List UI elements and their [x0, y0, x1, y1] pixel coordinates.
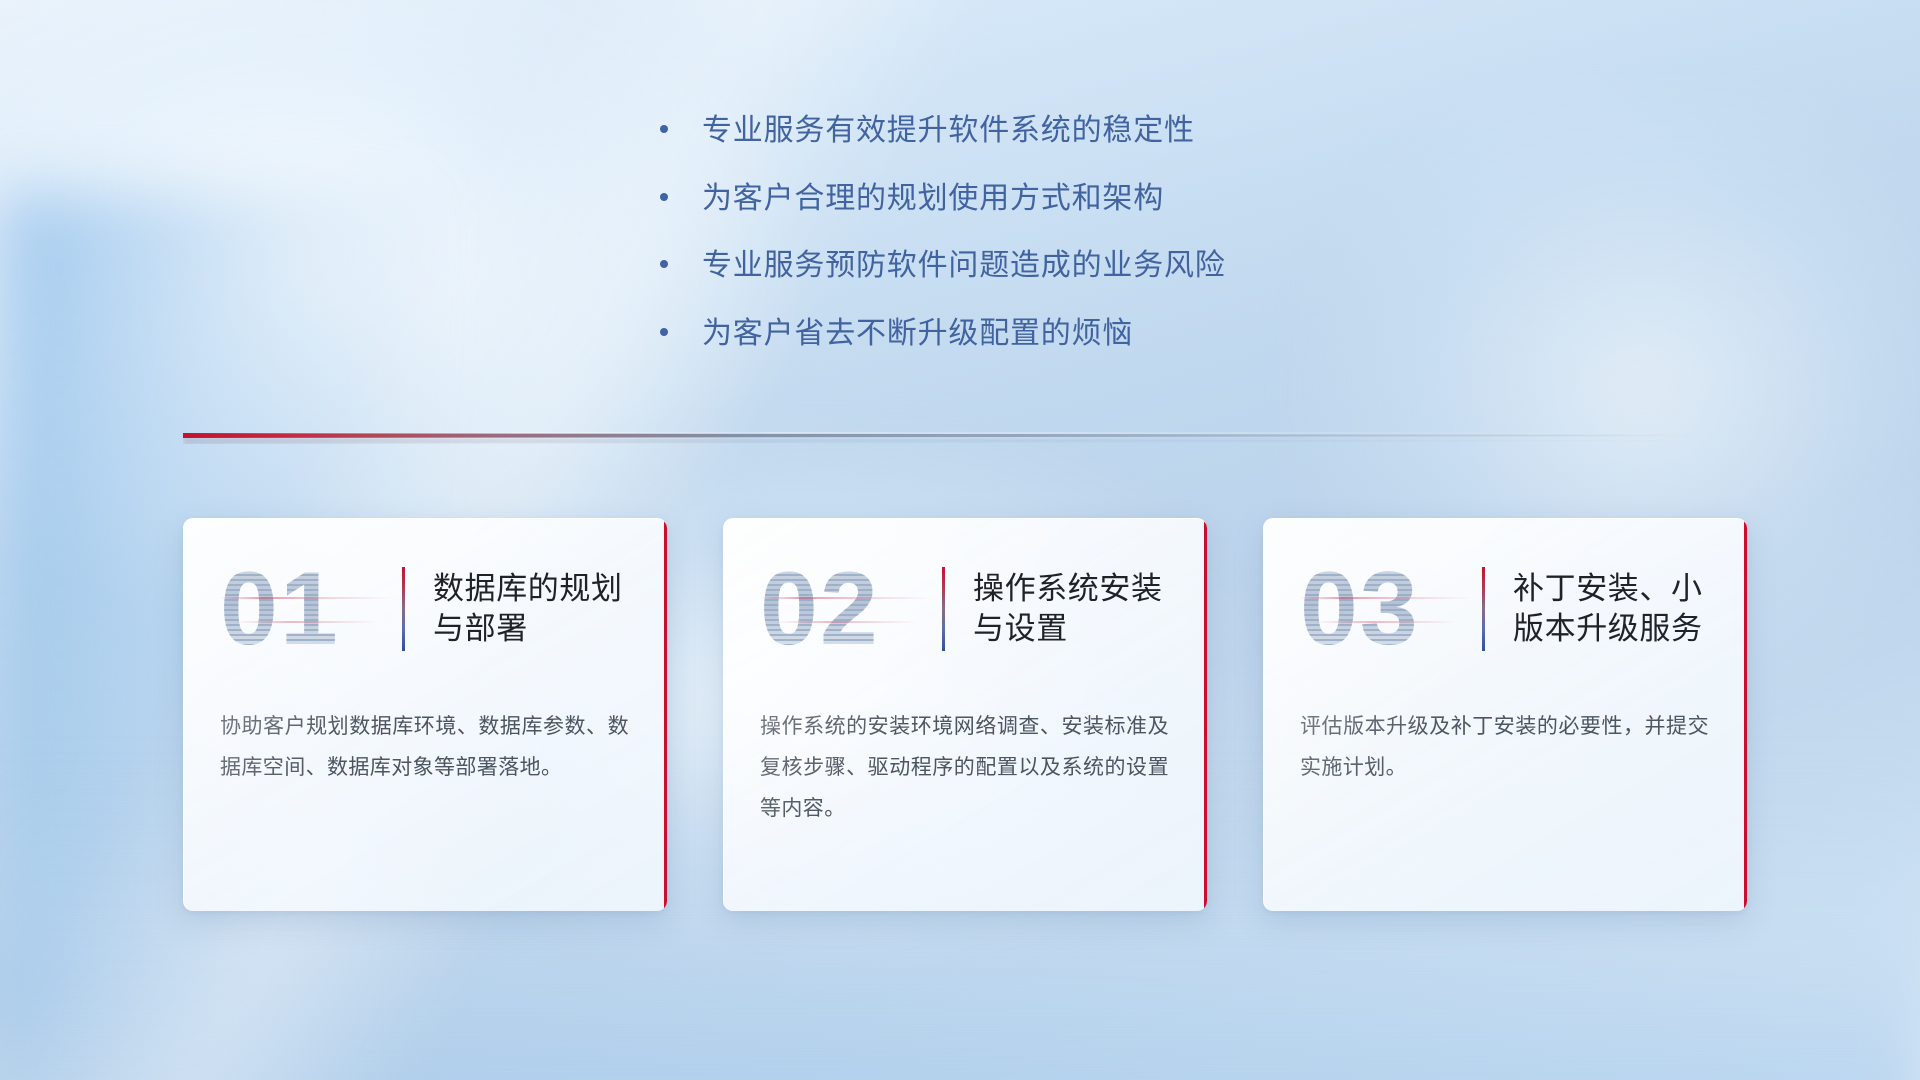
bullet-item: 为客户省去不断升级配置的烦恼 [660, 315, 1420, 353]
bullet-item: 为客户合理的规划使用方式和架构 [660, 180, 1420, 218]
card-divider-rule [402, 567, 405, 651]
bullet-item-label: 专业服务预防软件问题造成的业务风险 [702, 247, 1226, 285]
bullet-dot-icon [660, 125, 668, 133]
card-number: 02 [760, 557, 938, 661]
section-divider [183, 428, 1743, 444]
service-card[interactable]: 03 补丁安装、小 版本升级服务 评估版本升级及补丁安装的必要性，并提交实施计划… [1263, 518, 1747, 911]
service-card[interactable]: 01 数据库的规划 与部署 协助客户规划数据库环境、数据库参数、数据库空间、数据… [183, 518, 667, 911]
benefits-bullet-list: 专业服务有效提升软件系统的稳定性 为客户合理的规划使用方式和架构 专业服务预防软… [660, 112, 1420, 382]
bullet-item-label: 为客户合理的规划使用方式和架构 [702, 180, 1164, 218]
card-number-graphic: 01 [220, 557, 398, 661]
bullet-item: 专业服务有效提升软件系统的稳定性 [660, 112, 1420, 150]
card-title: 数据库的规划 与部署 [433, 569, 623, 650]
section-divider-highlight [183, 432, 1743, 434]
bullet-item-label: 专业服务有效提升软件系统的稳定性 [702, 112, 1195, 150]
card-title: 补丁安装、小 版本升级服务 [1513, 569, 1703, 650]
service-card[interactable]: 02 操作系统安装 与设置 操作系统的安装环境网络调查、安装标准及复核步骤、驱动… [723, 518, 1207, 911]
card-divider-rule [942, 567, 945, 651]
card-header: 02 操作系统安装 与设置 [724, 519, 1207, 699]
service-card-list: 01 数据库的规划 与部署 协助客户规划数据库环境、数据库参数、数据库空间、数据… [183, 518, 1747, 911]
card-body: 协助客户规划数据库环境、数据库参数、数据库空间、数据库对象等部署落地。 [184, 707, 667, 789]
section-divider-shadow [183, 438, 1743, 444]
card-divider-rule [1482, 567, 1485, 651]
bullet-item-label: 为客户省去不断升级配置的烦恼 [702, 315, 1133, 353]
card-description: 协助客户规划数据库环境、数据库参数、数据库空间、数据库对象等部署落地。 [220, 707, 629, 789]
bullet-dot-icon [660, 260, 668, 268]
card-header: 01 数据库的规划 与部署 [184, 519, 667, 699]
card-number: 01 [220, 557, 398, 661]
bullet-item: 专业服务预防软件问题造成的业务风险 [660, 247, 1420, 285]
card-number: 03 [1300, 557, 1478, 661]
bullet-dot-icon [660, 328, 668, 336]
card-header: 03 补丁安装、小 版本升级服务 [1264, 519, 1747, 699]
card-body: 评估版本升级及补丁安装的必要性，并提交实施计划。 [1264, 707, 1747, 789]
card-body: 操作系统的安装环境网络调查、安装标准及复核步骤、驱动程序的配置以及系统的设置等内… [724, 707, 1207, 830]
card-description: 操作系统的安装环境网络调查、安装标准及复核步骤、驱动程序的配置以及系统的设置等内… [760, 707, 1169, 830]
card-number-graphic: 02 [760, 557, 938, 661]
card-number-graphic: 03 [1300, 557, 1478, 661]
card-title: 操作系统安装 与设置 [973, 569, 1163, 650]
card-description: 评估版本升级及补丁安装的必要性，并提交实施计划。 [1300, 707, 1709, 789]
bullet-dot-icon [660, 193, 668, 201]
